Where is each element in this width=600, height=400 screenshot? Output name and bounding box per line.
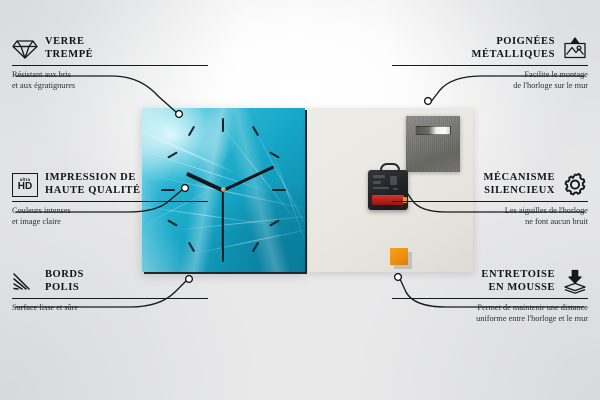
connector-endpoint-poignees xyxy=(425,98,432,105)
callout-mecanisme-silencieux: MÉCANISMESILENCIEUX Les aiguilles de l'h… xyxy=(392,172,588,227)
callout-title: VERRETREMPÉ xyxy=(45,36,93,62)
callout-impression-haute-qualite: ultra HD IMPRESSION DEHAUTE QUALITÉ Coul… xyxy=(12,172,208,227)
clock-center-pin xyxy=(221,187,226,192)
callout-description: Couleurs intenseset image claire xyxy=(12,205,208,227)
callout-title: ENTRETOISEEN MOUSSE xyxy=(481,269,555,295)
hour-tick-12 xyxy=(222,118,224,132)
callout-header: BORDSPOLIS xyxy=(12,269,208,295)
callout-title: POIGNÉESMÉTALLIQUES xyxy=(472,36,555,62)
callout-title: BORDSPOLIS xyxy=(45,269,84,295)
callout-description: Résistant aux briset aux égratignures xyxy=(12,69,208,91)
callout-description: Facilite le montagede l'horloge sur le m… xyxy=(392,69,588,91)
callout-verre-trempe: VERRETREMPÉ Résistant aux briset aux égr… xyxy=(12,36,208,91)
callout-header: ENTRETOISEEN MOUSSE xyxy=(392,269,588,295)
infographic-canvas: VERRETREMPÉ Résistant aux briset aux égr… xyxy=(0,0,600,400)
metal-hanger-plate xyxy=(406,116,460,172)
gear-icon xyxy=(562,172,588,198)
hour-tick-3 xyxy=(272,189,286,191)
ultra-hd-badge-icon: ultra HD xyxy=(12,172,38,198)
callout-bords-polis: BORDSPOLIS Surface lisse et sûre xyxy=(12,269,208,313)
polished-edges-icon xyxy=(12,269,38,295)
callout-divider xyxy=(12,65,208,66)
callout-title: MÉCANISMESILENCIEUX xyxy=(484,172,555,198)
callout-header: ultra HD IMPRESSION DEHAUTE QUALITÉ xyxy=(12,172,208,198)
second-hand xyxy=(222,190,224,250)
callout-description: Les aiguilles de l'horlogene font aucun … xyxy=(392,205,588,227)
hanger-keyhole-slot xyxy=(415,126,451,135)
hd-label: HD xyxy=(18,182,32,192)
hour-tick-6 xyxy=(222,248,224,262)
callout-divider xyxy=(392,201,588,202)
picture-hanger-icon xyxy=(562,36,588,62)
callout-divider xyxy=(392,298,588,299)
callout-poignees-metalliques: POIGNÉESMÉTALLIQUES Facilite le montaged… xyxy=(392,36,588,91)
callout-divider xyxy=(12,201,208,202)
callout-divider xyxy=(392,65,588,66)
callout-divider xyxy=(12,298,208,299)
callout-header: VERRETREMPÉ xyxy=(12,36,208,62)
diamond-icon xyxy=(12,36,38,62)
callout-title: IMPRESSION DEHAUTE QUALITÉ xyxy=(45,172,141,198)
foam-spacer-icon xyxy=(562,269,588,295)
foam-spacer-pad xyxy=(390,248,408,265)
callout-description: Surface lisse et sûre xyxy=(12,302,208,313)
callout-entretoise-en-mousse: ENTRETOISEEN MOUSSE Permet de maintenir … xyxy=(392,269,588,324)
callout-description: Permet de maintenir une distanceuniforme… xyxy=(392,302,588,324)
callout-header: MÉCANISMESILENCIEUX xyxy=(392,172,588,198)
callout-header: POIGNÉESMÉTALLIQUES xyxy=(392,36,588,62)
